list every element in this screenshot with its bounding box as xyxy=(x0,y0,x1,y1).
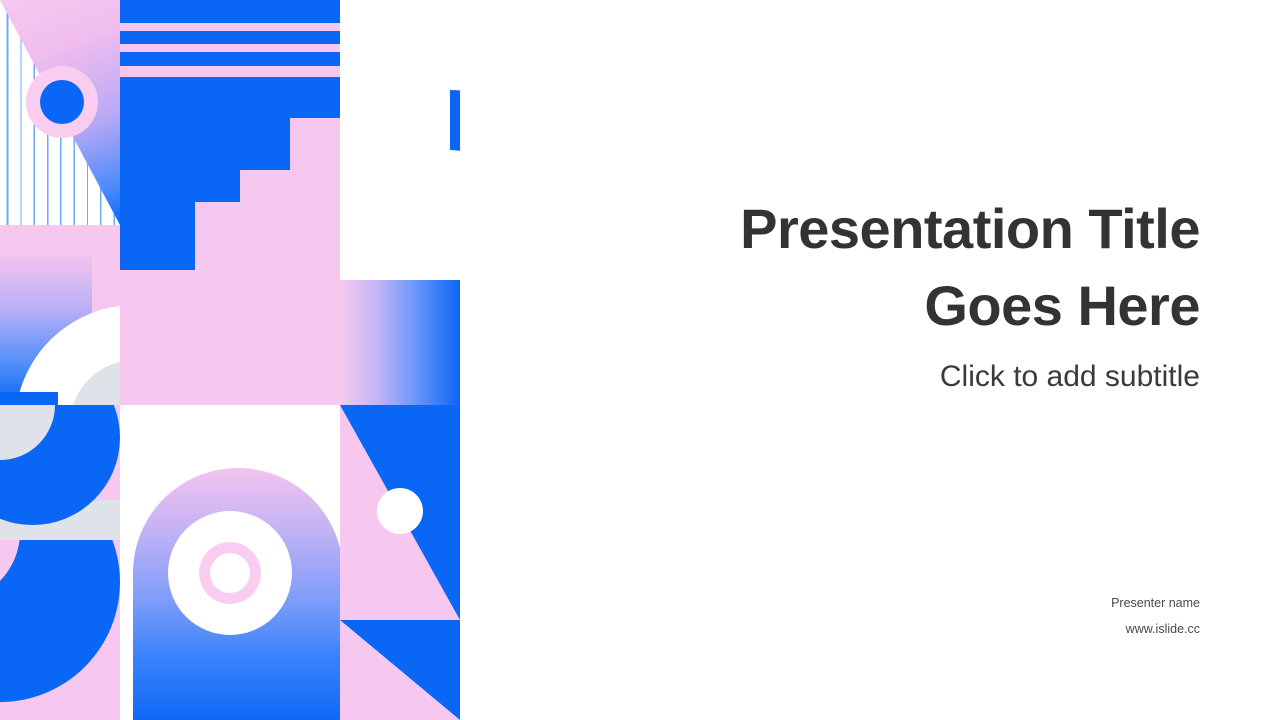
slide-subtitle[interactable]: Click to add subtitle xyxy=(620,359,1200,395)
white-dot-shape xyxy=(377,488,423,534)
pink-triangle-shape xyxy=(340,620,460,720)
blue-foot-bar-shape xyxy=(0,392,58,405)
blue-quarter-ring-shape xyxy=(0,540,120,702)
triangle-cell-upper xyxy=(340,405,460,620)
stripes-cell xyxy=(0,0,120,225)
slide-title-line-2: Goes Here xyxy=(924,274,1200,337)
blue-circle-shape xyxy=(40,80,84,124)
presenter-name[interactable]: Presenter name xyxy=(1111,590,1200,616)
staircase-cell xyxy=(120,0,340,405)
slide-text-block: Presentation Title Goes Here Click to ad… xyxy=(620,190,1200,395)
gradient-bar-shape xyxy=(340,280,460,405)
quarter-ring-cell xyxy=(0,405,120,540)
slide-footer: Presenter name www.islide.cc xyxy=(1111,590,1200,643)
slide-title[interactable]: Presentation Title Goes Here xyxy=(620,190,1200,345)
split-circle-cell xyxy=(340,0,460,270)
blue-bar-shape xyxy=(120,31,340,44)
blue-bar-shape xyxy=(120,0,340,23)
blue-bar-shape xyxy=(120,52,340,66)
quarter-ring-cell-lower xyxy=(0,540,120,720)
slide-title-line-1: Presentation Title xyxy=(740,197,1200,260)
arch-cell xyxy=(120,405,340,720)
arcs-cell xyxy=(0,225,120,405)
ring-hole-shape xyxy=(210,553,250,593)
decorative-art-panel xyxy=(0,0,460,720)
triangle-cell-lower xyxy=(340,620,460,720)
blue-staircase-shape xyxy=(120,77,340,270)
website-url[interactable]: www.islide.cc xyxy=(1111,616,1200,642)
presentation-slide: Presentation Title Goes Here Click to ad… xyxy=(0,0,1280,720)
